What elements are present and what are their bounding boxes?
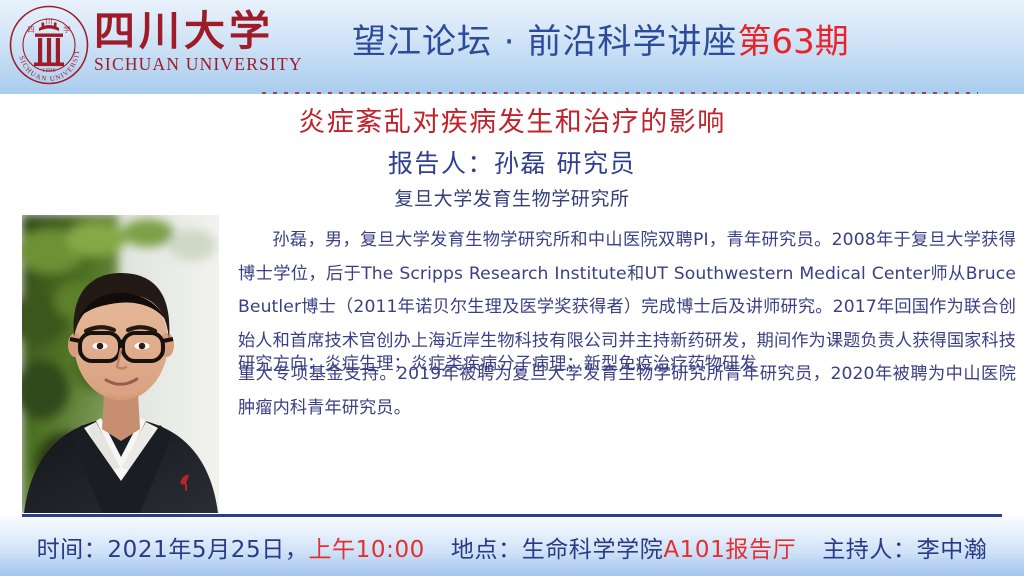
event-details: 时间：2021年5月25日，上午10:00地点：生命科学学院A101报告厅主持人… bbox=[0, 530, 1024, 564]
speaker-affiliation: 复旦大学发育生物学研究所 bbox=[0, 184, 1024, 211]
host-label: 主持人： bbox=[822, 537, 916, 563]
time-date: 2021年5月25日， bbox=[107, 537, 308, 563]
time-clock: 上午10:00 bbox=[308, 537, 424, 563]
svg-text:川: 川 bbox=[45, 17, 53, 26]
speaker-portrait bbox=[22, 215, 219, 513]
university-name-en: SICHUAN UNIVERSITY bbox=[94, 54, 303, 75]
speaker-line: 报告人：孙磊 研究员 bbox=[0, 144, 1024, 180]
host-name: 李中瀚 bbox=[917, 537, 988, 563]
place-prefix: 生命科学学院 bbox=[522, 537, 664, 563]
research-directions: 研究方向：炎症生理；炎症类疾病分子病理；新型免疫治疗药物研发 bbox=[238, 349, 1016, 374]
footer-divider bbox=[22, 514, 1002, 517]
university-logo: 川 四 学 1896 SICHUAN UNIVERSITY 四川大学 SICHU… bbox=[8, 4, 303, 86]
speaker-bio: 孙磊，男，复旦大学发育生物学研究所和中山医院双聘PI，青年研究员。2008年于复… bbox=[238, 224, 1016, 426]
time-label: 时间： bbox=[37, 537, 108, 563]
svg-text:学: 学 bbox=[63, 24, 71, 34]
poster-body: 炎症紊乱对疾病发生和治疗的影响 报告人：孙磊 研究员 复旦大学发育生物学研究所 bbox=[0, 94, 1024, 514]
talk-title: 炎症紊乱对疾病发生和治疗的影响 bbox=[0, 100, 1024, 139]
svg-text:四: 四 bbox=[27, 25, 35, 34]
poster-header: 川 四 学 1896 SICHUAN UNIVERSITY 四川大学 SICHU… bbox=[0, 0, 1024, 94]
svg-text:1896: 1896 bbox=[42, 68, 56, 74]
university-name-cn: 四川大学 bbox=[94, 6, 303, 56]
speaker-bio-paragraph: 孙磊，男，复旦大学发育生物学研究所和中山医院双聘PI，青年研究员。2008年于复… bbox=[238, 224, 1016, 426]
forum-title: 望江论坛 · 前沿科学讲座第63期 bbox=[352, 14, 849, 63]
place-room: A101报告厅 bbox=[663, 537, 796, 563]
forum-title-text: 望江论坛 · 前沿科学讲座 bbox=[352, 22, 737, 62]
place-label: 地点： bbox=[451, 537, 522, 563]
sichuan-university-crest-icon: 川 四 学 1896 SICHUAN UNIVERSITY bbox=[8, 4, 90, 86]
poster-footer: 时间：2021年5月25日，上午10:00地点：生命科学学院A101报告厅主持人… bbox=[0, 514, 1024, 576]
forum-issue-number: 第63期 bbox=[737, 22, 848, 62]
